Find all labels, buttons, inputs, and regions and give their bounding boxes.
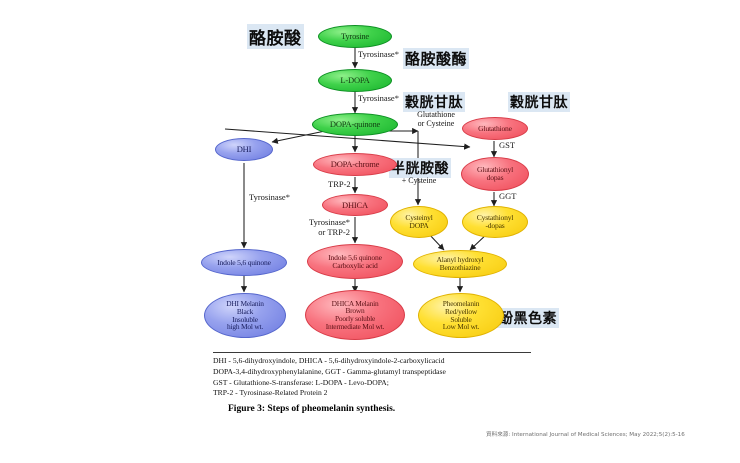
node-pheomelanin-label: Pheomelanin Red/yellow Soluble Low Mol w… xyxy=(419,300,503,331)
node-dhi-melanin-label: DHI Melanin Black Insoluble high Mol wt. xyxy=(205,300,285,331)
node-dhica[interactable]: DHICA xyxy=(322,194,388,216)
node-dopa-quinone-label: DOPA-quinone xyxy=(313,120,397,129)
node-dhica-melanin[interactable]: DHICA Melanin Brown Poorly soluble Inter… xyxy=(305,290,405,340)
cn-label-tyrosine: 酪胺酸 xyxy=(247,24,304,49)
node-dhi-label: DHI xyxy=(216,145,272,154)
node-l-dopa-label: L-DOPA xyxy=(319,76,391,85)
node-glutathione-label: Glutathione xyxy=(463,125,527,133)
diagram-canvas: 酪胺酸 酪胺酸酶 穀胱甘肽 穀胱甘肽 半胱胺酸 酚黑色素 Glutathione… xyxy=(0,0,740,463)
legend-line: GST - Glutathione-S-transferase: L-DOPA … xyxy=(213,378,531,389)
cn-label-pheomelanin: 酚黑色素 xyxy=(497,308,559,328)
abbreviation-legend: DHI - 5,6-dihydroxyindole, DHICA - 5,6-d… xyxy=(213,352,531,399)
legend-line: DOPA-3,4-dihydroxyphenylalanine, GGT - G… xyxy=(213,367,531,378)
node-cystathionyl-dopas-label: Cystathionyl -dopas xyxy=(463,214,527,230)
node-dhi[interactable]: DHI xyxy=(215,138,273,161)
node-glutathionyl-dopas-label: Glutathionyl dopas xyxy=(462,166,528,182)
cn-label-glutathione-right: 穀胱甘肽 xyxy=(508,92,570,112)
figure-caption: Figure 3: Steps of pheomelanin synthesis… xyxy=(228,404,395,414)
node-tyrosine[interactable]: Tyrosine xyxy=(318,25,392,48)
cn-label-tyrosinase: 酪胺酸酶 xyxy=(403,48,469,69)
node-cystathionyl-dopas[interactable]: Cystathionyl -dopas xyxy=(462,206,528,238)
node-glutathione[interactable]: Glutathione xyxy=(462,117,528,140)
node-dhica-melanin-label: DHICA Melanin Brown Poorly soluble Inter… xyxy=(306,300,404,331)
legend-line: DHI - 5,6-dihydroxyindole, DHICA - 5,6-d… xyxy=(213,356,531,367)
node-indole-quinone-carboxylic-label: Indole 5,6 quinone Carboxylic acid xyxy=(308,254,402,270)
edge-label-ggt: GGT xyxy=(499,192,516,202)
cn-label-cysteine: 半胱胺酸 xyxy=(389,158,451,178)
edge-label-tyrosinase-dhi: Tyrosinase* xyxy=(249,193,290,203)
legend-line: TRP-2 - Tyrosinase-Related Protein 2 xyxy=(213,388,531,399)
edge-label-tyrosinase-1: Tyrosinase* xyxy=(358,50,399,60)
node-indole-quinone-carboxylic[interactable]: Indole 5,6 quinone Carboxylic acid xyxy=(307,244,403,279)
node-dopa-quinone[interactable]: DOPA-quinone xyxy=(312,113,398,136)
cn-label-glutathione-left: 穀胱甘肽 xyxy=(403,92,465,112)
node-cysteinyl-dopa[interactable]: Cysteinyl DOPA xyxy=(390,206,448,238)
source-credit: 資料來源: International Journal of Medical S… xyxy=(486,430,685,438)
node-alanyl-benzothiazine[interactable]: Alanyl hydroxyl Benzothiazine xyxy=(413,250,507,278)
edge-label-tyrosinase-or-trp2: Tyrosinase* or TRP-2 xyxy=(305,218,350,237)
node-pheomelanin[interactable]: Pheomelanin Red/yellow Soluble Low Mol w… xyxy=(418,293,504,338)
node-tyrosine-label: Tyrosine xyxy=(319,32,391,41)
label-plus-cysteine: + Cysteine xyxy=(391,176,447,185)
node-alanyl-benzothiazine-label: Alanyl hydroxyl Benzothiazine xyxy=(414,256,506,272)
node-l-dopa[interactable]: L-DOPA xyxy=(318,69,392,92)
node-dhi-melanin[interactable]: DHI Melanin Black Insoluble high Mol wt. xyxy=(204,293,286,338)
edge-label-gst: GST xyxy=(499,141,515,151)
node-indole-quinone-label: Indole 5,6 quinone xyxy=(202,259,286,267)
node-indole-quinone[interactable]: Indole 5,6 quinone xyxy=(201,249,287,276)
label-glutathione-or-cysteine: Glutathione or Cysteine xyxy=(404,110,468,128)
node-cysteinyl-dopa-label: Cysteinyl DOPA xyxy=(391,214,447,230)
edge-label-tyrosinase-2: Tyrosinase* xyxy=(358,94,399,104)
edge-label-trp2: TRP-2 xyxy=(328,180,351,190)
node-dopa-chrome-label: DOPA-chrome xyxy=(314,160,396,169)
node-dopa-chrome[interactable]: DOPA-chrome xyxy=(313,153,397,176)
node-glutathionyl-dopas[interactable]: Glutathionyl dopas xyxy=(461,157,529,191)
node-dhica-label: DHICA xyxy=(323,201,387,210)
